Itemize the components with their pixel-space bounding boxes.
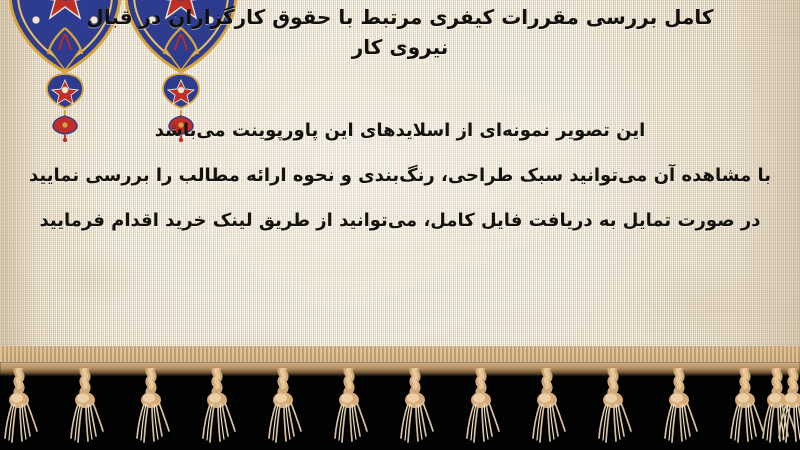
carpet-fringe bbox=[0, 362, 800, 450]
fringe-tassel bbox=[62, 368, 108, 450]
fringe-tassel bbox=[260, 368, 306, 450]
fringe-tassel bbox=[194, 368, 240, 450]
fringe-tassel bbox=[524, 368, 570, 450]
fringe-tassel bbox=[590, 368, 636, 450]
fringe-tassel bbox=[656, 368, 702, 450]
body-line-1: این تصویر نمونه‌ای از اسلایدهای این پاور… bbox=[0, 108, 800, 153]
fringe-tassel bbox=[770, 368, 800, 450]
slide-title: کامل بررسی مقررات کیفری مرتبط با حقوق کا… bbox=[0, 2, 800, 62]
body-line-2: با مشاهده آن می‌توانید سبک طراحی، رنگ‌بن… bbox=[0, 153, 800, 198]
slide-title-line-1: کامل بررسی مقررات کیفری مرتبط با حقوق کا… bbox=[86, 5, 713, 29]
fringe-tassel bbox=[128, 368, 174, 450]
fringe-tassel bbox=[722, 368, 768, 450]
slide-title-line-2: نیروی کار bbox=[0, 32, 800, 62]
fringe-tassel bbox=[326, 368, 372, 450]
fringe-tassel bbox=[392, 368, 438, 450]
fringe-tassel bbox=[0, 368, 42, 450]
slide-body-text: این تصویر نمونه‌ای از اسلایدهای این پاور… bbox=[0, 108, 800, 243]
carpet-selvedge bbox=[0, 346, 800, 362]
fringe-tassel bbox=[458, 368, 504, 450]
body-line-3: در صورت تمایل به دریافت فایل کامل، می‌تو… bbox=[0, 198, 800, 243]
slide-canvas: کامل بررسی مقررات کیفری مرتبط با حقوق کا… bbox=[0, 0, 800, 450]
